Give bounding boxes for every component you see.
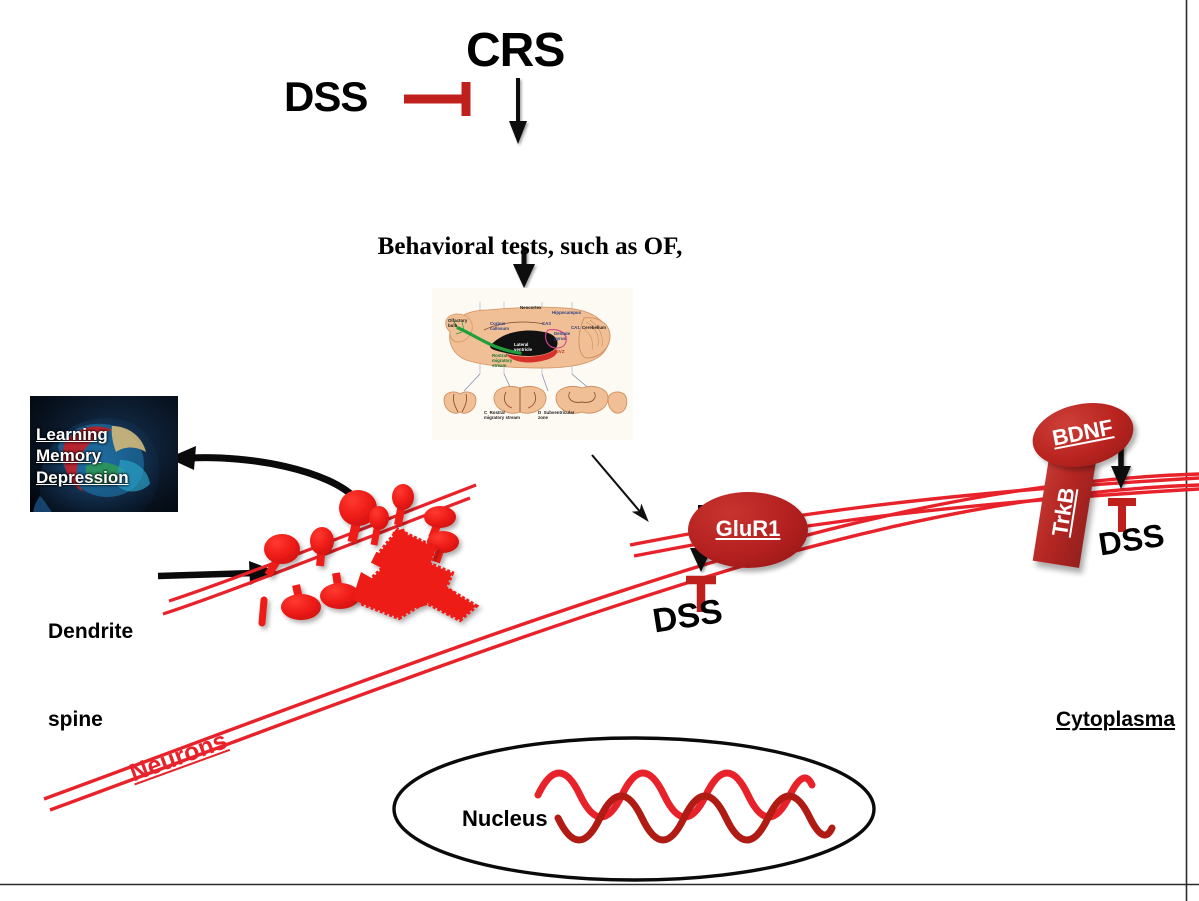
glur1-label: GluR1 [688,516,808,542]
nucleus-label: Nucleus [462,806,548,832]
behavioral-tests-line1: Behavioral tests, such as OF, [350,230,710,264]
label-panel-d: D Subventricular zone [538,410,574,420]
figure-canvas: CRS DSS Behavioral tests, such as OF, FS… [0,0,1199,901]
trkb-label: TrkB [1042,456,1085,569]
arrow-spine-to-outcomes [168,446,357,500]
outcome-depression: Depression [36,467,178,488]
dss-label-top: DSS [284,73,367,121]
dendrite-spine-label: Dendrite spine [48,558,133,793]
dss-inhibits-crs-symbol [404,82,466,116]
dendrite-spine-line2: spine [48,705,133,734]
label-panel-c: C Rostral migratory stream [484,410,520,420]
spine [262,600,264,623]
cytoplasma-label: Cytoplasma [1056,708,1175,732]
label-svz: SVZ [556,349,565,354]
label-rostral-migratory-stream: Rostral migratory stream [492,353,512,368]
label-hippocampus: Hippocampus [552,310,581,315]
glur1-receptor: GluR1 [688,492,808,568]
label-olfactory-bulb: Olfactory bulb [448,318,467,328]
rodent-brain-graphic [432,288,633,440]
label-dentate-gyrus: Dentate gyrus [554,331,570,341]
label-neocortex: Neocortex [520,305,541,310]
outcome-memory: Memory [36,445,178,466]
brain-outcomes-text: Learning Memory Depression [36,424,178,488]
arrow-brain-to-membrane [592,455,642,514]
arrow-crs-to-behavior [509,78,527,144]
dendrite-spine-line1: Dendrite [48,617,133,646]
spine [281,585,321,620]
crs-label: CRS [466,23,564,78]
arrow-dendrite-label [158,561,278,585]
rodent-brain-diagram: Olfactory bulb Neocortex Corpus callosum… [432,288,633,440]
spine [392,484,414,525]
spine [369,506,389,545]
outcome-learning: Learning [36,424,178,445]
label-corpus-callosum: Corpus callosum [490,321,509,331]
bdnf-label: BDNF [1030,411,1135,456]
brain-outcomes-image: Learning Memory Depression [30,396,178,512]
label-ca1: CA1 [571,325,580,330]
label-lateral-ventricle: Lateral ventricle [514,342,532,352]
label-cerebellum: Cerebellum [582,325,606,330]
label-ca3: CA3 [542,321,551,326]
spine [320,573,360,609]
